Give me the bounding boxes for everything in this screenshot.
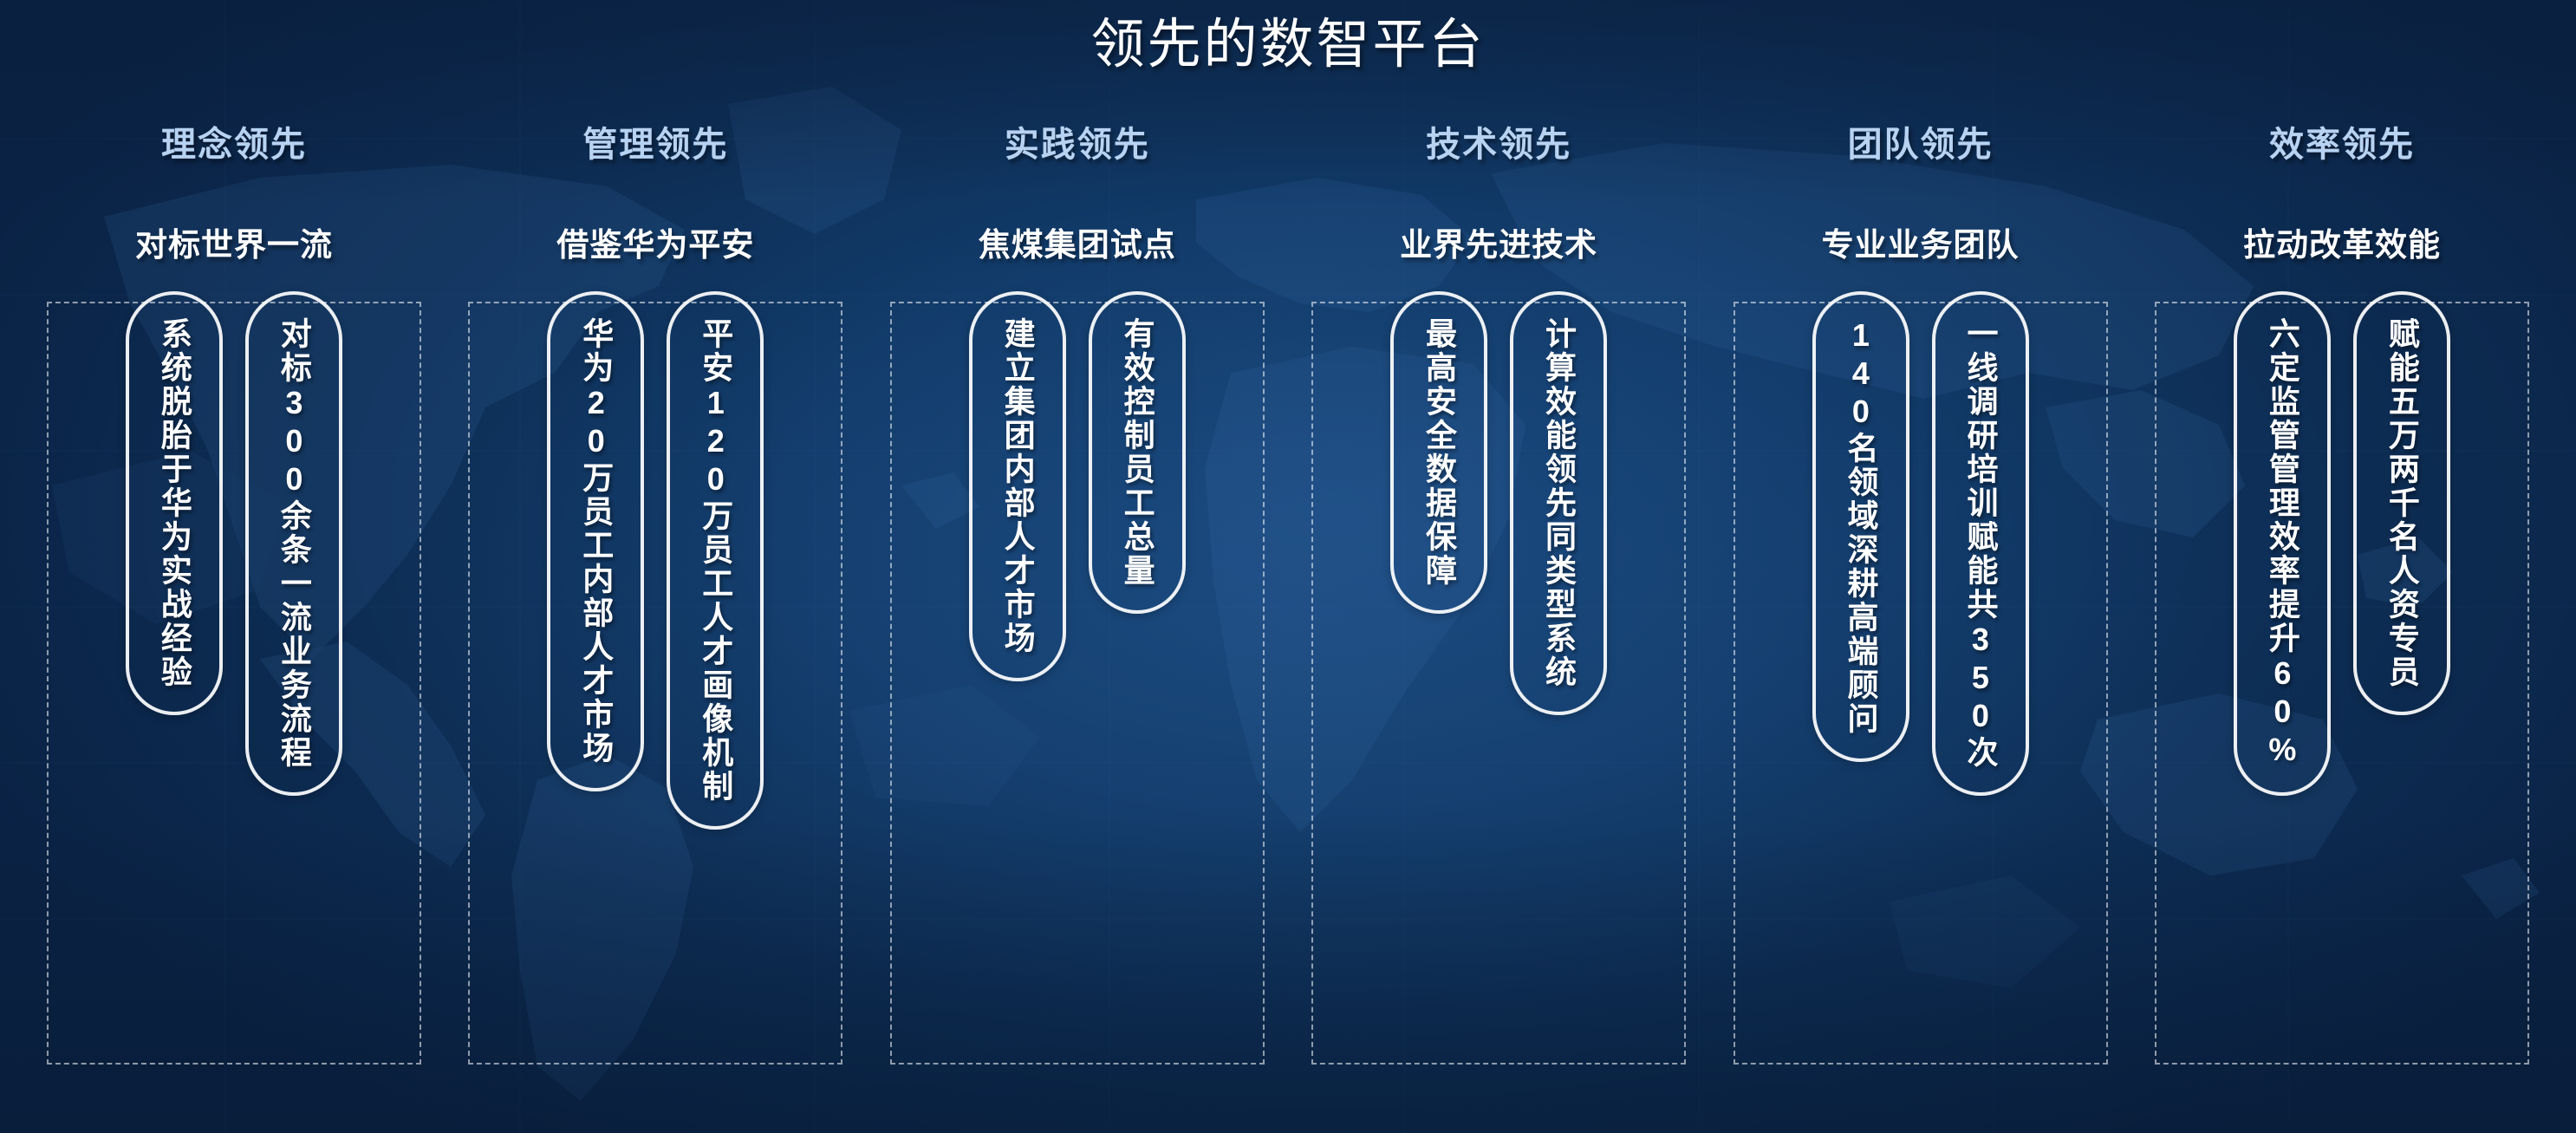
pill-label: 赋能五万两千名人资专员	[2384, 317, 2420, 689]
pill-label: 六定监管管理效率提升60%	[2264, 317, 2300, 770]
pill-item[interactable]: 系统脱胎于华为实战经验	[126, 291, 223, 715]
pill-label: 计算效能领先同类型系统	[1540, 317, 1577, 689]
column-subtitle: 业界先进技术	[1400, 218, 1597, 265]
pill-item[interactable]: 赋能五万两千名人资专员	[2353, 291, 2450, 715]
column-technology: 技术领先 业界先进技术 最高安全数据保障 计算效能领先同类型系统	[1299, 104, 1698, 1065]
columns-container: 理念领先 对标世界一流 系统脱胎于华为实战经验 对标300余条一流业务流程 管理…	[35, 104, 2541, 1110]
column-team: 团队领先 专业业务团队 140名领域深耕高端顾问 一线调研培训赋能共350次	[1721, 104, 2120, 1065]
column-heading: 团队领先	[1848, 116, 1994, 166]
pill-label: 平安120万员工人才画像机制	[698, 317, 734, 804]
column-heading: 技术领先	[1426, 116, 1571, 166]
pill-box: 系统脱胎于华为实战经验 对标300余条一流业务流程	[47, 302, 421, 1065]
column-subtitle: 对标世界一流	[135, 218, 333, 265]
pill-label: 有效控制员工总量	[1119, 317, 1155, 588]
slide-root: 领先的数智平台 理念领先 对标世界一流 系统脱胎于华为实战经验 对标300余条一…	[0, 0, 2576, 1133]
column-subtitle: 借鉴华为平安	[556, 218, 754, 265]
pill-box: 最高安全数据保障 计算效能领先同类型系统	[1311, 302, 1686, 1065]
pill-item[interactable]: 平安120万员工人才画像机制	[667, 291, 764, 830]
column-heading: 实践领先	[1005, 116, 1150, 166]
column-concept: 理念领先 对标世界一流 系统脱胎于华为实战经验 对标300余条一流业务流程	[35, 104, 433, 1065]
column-subtitle: 专业业务团队	[1822, 218, 2020, 265]
pill-label: 系统脱胎于华为实战经验	[156, 317, 192, 689]
pill-item[interactable]: 有效控制员工总量	[1089, 291, 1186, 614]
pill-item[interactable]: 一线调研培训赋能共350次	[1932, 291, 2029, 796]
pill-label: 140名领域深耕高端顾问	[1843, 317, 1879, 736]
pill-label: 一线调研培训赋能共350次	[1962, 317, 1999, 770]
column-subtitle: 焦煤集团试点	[979, 218, 1176, 265]
pill-item[interactable]: 140名领域深耕高端顾问	[1812, 291, 1909, 762]
pill-item[interactable]: 最高安全数据保障	[1390, 291, 1487, 614]
column-heading: 管理领先	[582, 116, 728, 166]
column-efficiency: 效率领先 拉动改革效能 六定监管管理效率提升60% 赋能五万两千名人资专员	[2143, 104, 2541, 1065]
slide-content: 领先的数智平台 理念领先 对标世界一流 系统脱胎于华为实战经验 对标300余条一…	[0, 0, 2576, 1133]
pill-item[interactable]: 计算效能领先同类型系统	[1510, 291, 1607, 715]
column-heading: 效率领先	[2269, 116, 2415, 166]
column-management: 管理领先 借鉴华为平安 华为20万员工内部人才市场 平安120万员工人才画像机制	[456, 104, 855, 1065]
pill-item[interactable]: 对标300余条一流业务流程	[245, 291, 342, 796]
column-subtitle: 拉动改革效能	[2243, 218, 2441, 265]
pill-label: 建立集团内部人才市场	[999, 317, 1036, 655]
pill-label: 华为20万员工内部人才市场	[578, 317, 615, 765]
pill-box: 140名领域深耕高端顾问 一线调研培训赋能共350次	[1734, 302, 2108, 1065]
column-practice: 实践领先 焦煤集团试点 建立集团内部人才市场 有效控制员工总量	[878, 104, 1277, 1065]
pill-item[interactable]: 华为20万员工内部人才市场	[547, 291, 644, 791]
column-heading: 理念领先	[161, 116, 307, 166]
pill-label: 对标300余条一流业务流程	[276, 317, 312, 770]
pill-item[interactable]: 六定监管管理效率提升60%	[2234, 291, 2331, 796]
pill-item[interactable]: 建立集团内部人才市场	[969, 291, 1066, 681]
pill-box: 建立集团内部人才市场 有效控制员工总量	[890, 302, 1265, 1065]
pill-box: 六定监管管理效率提升60% 赋能五万两千名人资专员	[2155, 302, 2529, 1065]
page-title: 领先的数智平台	[0, 16, 2576, 75]
pill-box: 华为20万员工内部人才市场 平安120万员工人才画像机制	[468, 302, 842, 1065]
pill-label: 最高安全数据保障	[1421, 317, 1457, 588]
